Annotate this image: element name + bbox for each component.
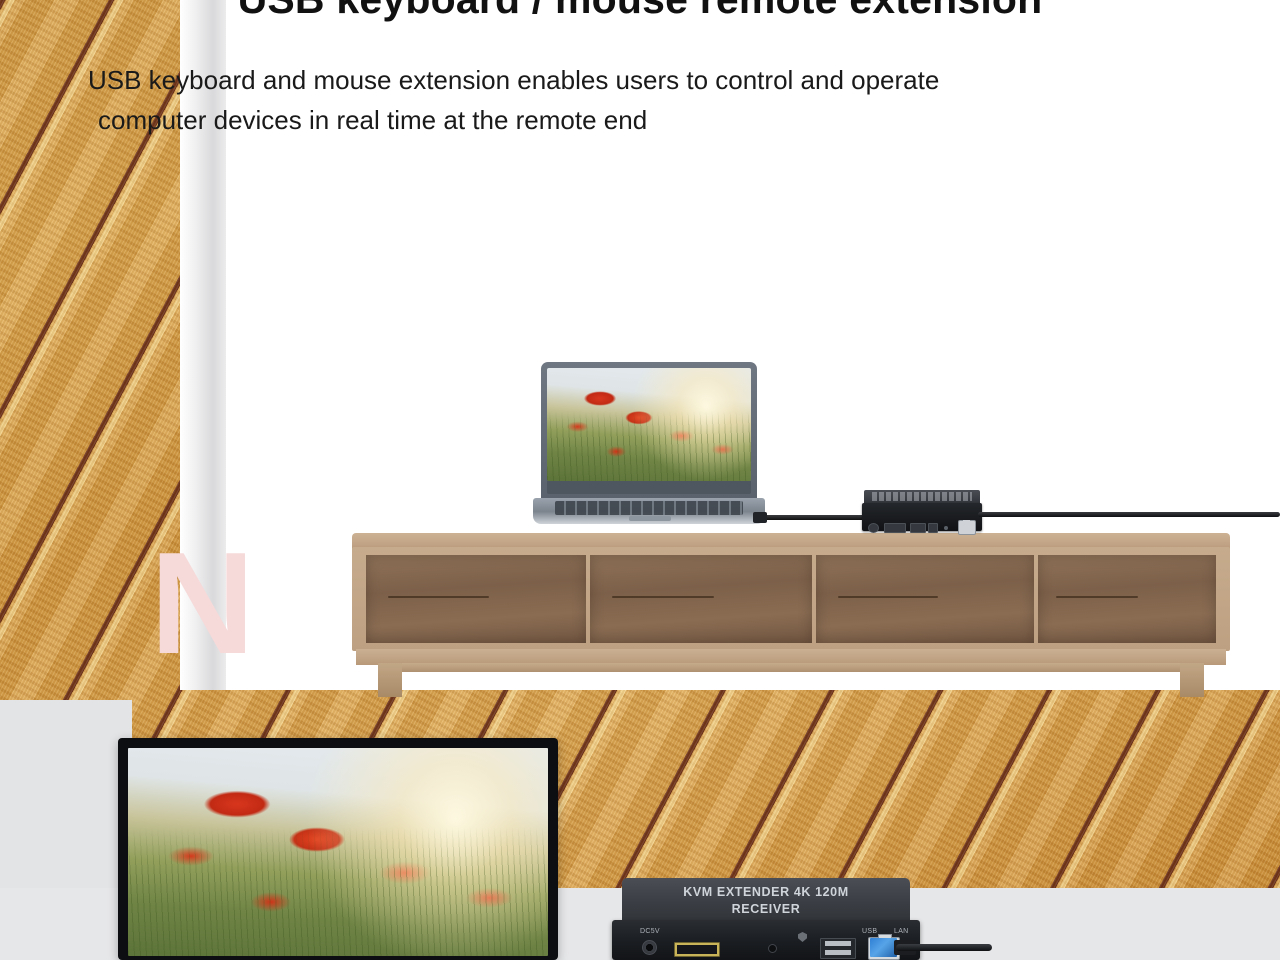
transmitter-top-label bbox=[872, 492, 972, 501]
laptop-screen-chin bbox=[547, 481, 751, 494]
subtitle-line-1: USB keyboard and mouse extension enables… bbox=[88, 65, 939, 95]
laptop bbox=[533, 362, 765, 534]
lan-cable-run bbox=[896, 944, 992, 951]
console-rail bbox=[378, 663, 1204, 672]
receiver-power-port bbox=[642, 940, 657, 955]
page-title: USB keyboard / mouse remote extension bbox=[0, 0, 1280, 23]
receiver-hdmi-port bbox=[674, 942, 720, 957]
subtitle-line-2: computer devices in real time at the rem… bbox=[88, 100, 1198, 140]
laptop-lid bbox=[541, 362, 757, 500]
console-body bbox=[352, 547, 1230, 651]
receiver-model-line-2: RECEIVER bbox=[622, 901, 910, 918]
console-drawer bbox=[590, 555, 812, 643]
hdmi-cable-laptop bbox=[757, 515, 869, 520]
console-drawer bbox=[366, 555, 586, 643]
transmitter-front-face bbox=[862, 503, 982, 531]
receiver-lan-label: LAN bbox=[894, 928, 909, 935]
tv-screen bbox=[128, 748, 548, 956]
brand-watermark: N bbox=[150, 520, 261, 687]
transmitter-lan-port bbox=[958, 520, 976, 535]
receiver-power-label: DC5V bbox=[640, 928, 660, 935]
receiver-model-label: KVM EXTENDER 4K 120M RECEIVER bbox=[622, 884, 910, 918]
product-marketing-image: USB keyboard / mouse remote extension US… bbox=[0, 0, 1280, 960]
poppy-grass-overlay bbox=[128, 748, 548, 956]
console-leg bbox=[1180, 663, 1204, 697]
remote-display-tv bbox=[118, 738, 558, 960]
lan-cable-connector bbox=[870, 938, 897, 957]
receiver-model-line-1: KVM EXTENDER 4K 120M bbox=[683, 885, 849, 899]
console-leg bbox=[378, 663, 402, 697]
console-drawer bbox=[1038, 555, 1216, 643]
receiver-usb-ports bbox=[820, 938, 856, 959]
transmitter-power-port bbox=[868, 523, 879, 533]
tv-console bbox=[352, 533, 1230, 693]
receiver-reset-button[interactable] bbox=[768, 944, 777, 953]
laptop-screen bbox=[547, 368, 751, 481]
laptop-trackpad bbox=[629, 516, 671, 521]
transmitter-usb-port bbox=[928, 523, 938, 533]
poppy-grass-overlay bbox=[547, 368, 751, 481]
receiver-top-cover: KVM EXTENDER 4K 120M RECEIVER bbox=[622, 878, 910, 924]
page-subtitle: USB keyboard and mouse extension enables… bbox=[88, 60, 1198, 141]
receiver-usb-label: USB bbox=[862, 928, 877, 935]
cat-cable-run bbox=[978, 512, 1280, 517]
console-drawer bbox=[816, 555, 1034, 643]
transmitter-led-indicator bbox=[944, 526, 948, 530]
laptop-keyboard bbox=[555, 501, 743, 515]
transmitter-hdmi-port bbox=[884, 523, 906, 533]
transmitter-usb-port bbox=[910, 523, 926, 533]
kvm-receiver-device: KVM EXTENDER 4K 120M RECEIVER DC5V USB L… bbox=[612, 878, 920, 960]
kvm-transmitter-device bbox=[862, 490, 982, 532]
